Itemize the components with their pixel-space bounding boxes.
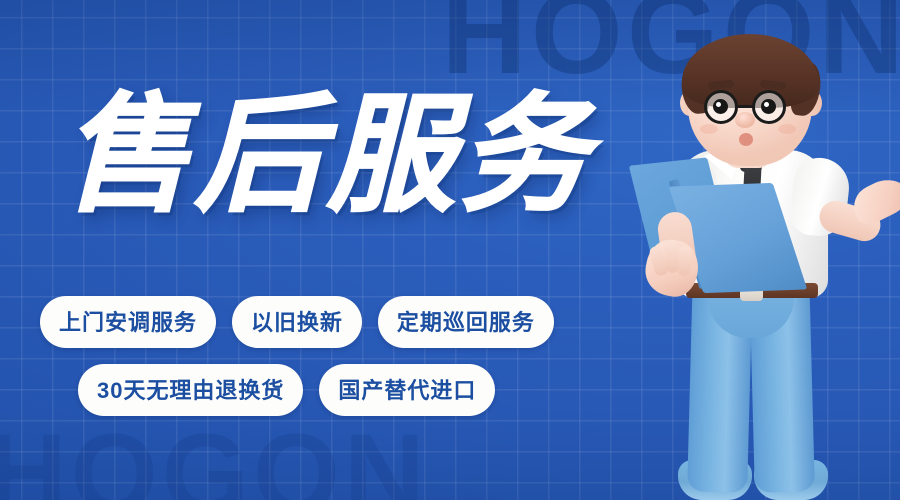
eye-highlight-left — [716, 102, 721, 107]
eye-highlight-right — [764, 102, 769, 107]
eye-pupil-right — [761, 99, 776, 114]
cheek-left — [700, 124, 718, 134]
eyeglass-bridge — [738, 105, 752, 108]
page-title: 售后服务 — [62, 84, 592, 227]
service-tag-domestic-substitute[interactable]: 国产替代进口 — [319, 364, 495, 416]
service-tag-trade-in[interactable]: 以旧换新 — [232, 296, 362, 348]
service-tag-row-1: 上门安调服务 以旧换新 定期巡回服务 — [40, 296, 680, 348]
eye-pupil-left — [713, 99, 728, 114]
cheek-right — [778, 124, 796, 134]
finger-left-3 — [677, 246, 692, 277]
mouth — [739, 133, 753, 146]
service-tag-onsite-installation[interactable]: 上门安调服务 — [40, 296, 216, 348]
hair — [682, 34, 818, 108]
service-tag-regular-inspection[interactable]: 定期巡回服务 — [378, 296, 554, 348]
service-tag-row-2: 30天无理由退换货 国产替代进口 — [40, 364, 680, 416]
after-sales-service-banner: HOGON HOGON — [0, 0, 900, 500]
nose — [735, 112, 755, 128]
service-tag-30-day-return[interactable]: 30天无理由退换货 — [78, 364, 303, 416]
service-tag-list: 上门安调服务 以旧换新 定期巡回服务 30天无理由退换货 国产替代进口 — [40, 296, 680, 432]
